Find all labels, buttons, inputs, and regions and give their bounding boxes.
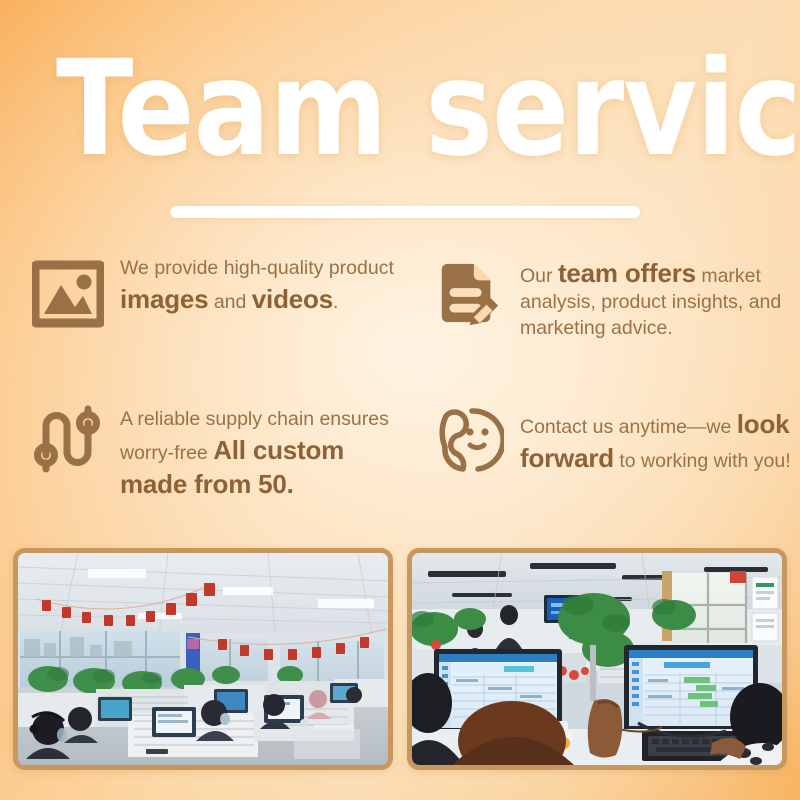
feature-item-contact: Contact us anytime—we look forward to wo… (400, 397, 800, 501)
feature-bold-all-custom: All custom (213, 435, 344, 465)
title-block: Team service (0, 42, 800, 177)
title-divider (170, 206, 640, 218)
phone-smile-icon (428, 397, 508, 495)
feature-bold-videos: videos (252, 284, 333, 314)
feature-tail-1: . (333, 291, 338, 313)
feature-text-team-offers: Our team offers market analysis, product… (508, 252, 800, 342)
feature-row-1: We provide high-quality product images a… (0, 252, 800, 350)
document-pencil-icon (428, 252, 508, 350)
feature-bold-made-from: made from 50. (120, 469, 294, 499)
feature-item-images: We provide high-quality product images a… (0, 252, 400, 350)
features-section: We provide high-quality product images a… (0, 252, 800, 501)
poster: Team service We provide high-quality pro… (0, 0, 800, 800)
feature-lead-4: Contact us anytime—we (520, 416, 737, 438)
feature-lead-3: A reliable supply chain ensures (120, 408, 389, 430)
feature-item-team-offers: Our team offers market analysis, product… (400, 252, 800, 350)
feature-mid-3: worry-free (120, 442, 213, 464)
page-title: Team service (56, 42, 744, 177)
feature-text-supply-chain: A reliable supply chain ensures worry-fr… (108, 397, 400, 501)
office-workstations-photo (13, 548, 393, 770)
feature-text-contact: Contact us anytime—we look forward to wo… (508, 397, 800, 476)
photo-gallery (0, 548, 800, 770)
image-icon (28, 252, 108, 350)
office-monitors-photo-image (412, 553, 782, 765)
feature-tail-2: marketing advice. (520, 317, 673, 339)
feature-lead-2: Our (520, 265, 558, 287)
office-workstations-photo-image (18, 553, 388, 765)
feature-tail-4: to working with you! (614, 450, 791, 472)
feature-text-images: We provide high-quality product images a… (108, 252, 400, 316)
feature-row-2: A reliable supply chain ensures worry-fr… (0, 397, 800, 501)
feature-bold-images: images (120, 284, 208, 314)
office-monitors-photo (407, 548, 787, 770)
feature-mid-1: and (208, 291, 251, 313)
feature-bold-team-offers: team offers (558, 258, 696, 288)
feature-item-supply-chain: A reliable supply chain ensures worry-fr… (0, 397, 400, 501)
feature-mid-2: market (696, 265, 761, 287)
supply-chain-icon (28, 397, 108, 495)
feature-lead-1: We provide high-quality product (120, 257, 394, 279)
feature-bold-look: look (737, 409, 790, 439)
feature-bold-forward: forward (520, 443, 614, 473)
feature-body-2: analysis, product insights, and (520, 291, 781, 313)
